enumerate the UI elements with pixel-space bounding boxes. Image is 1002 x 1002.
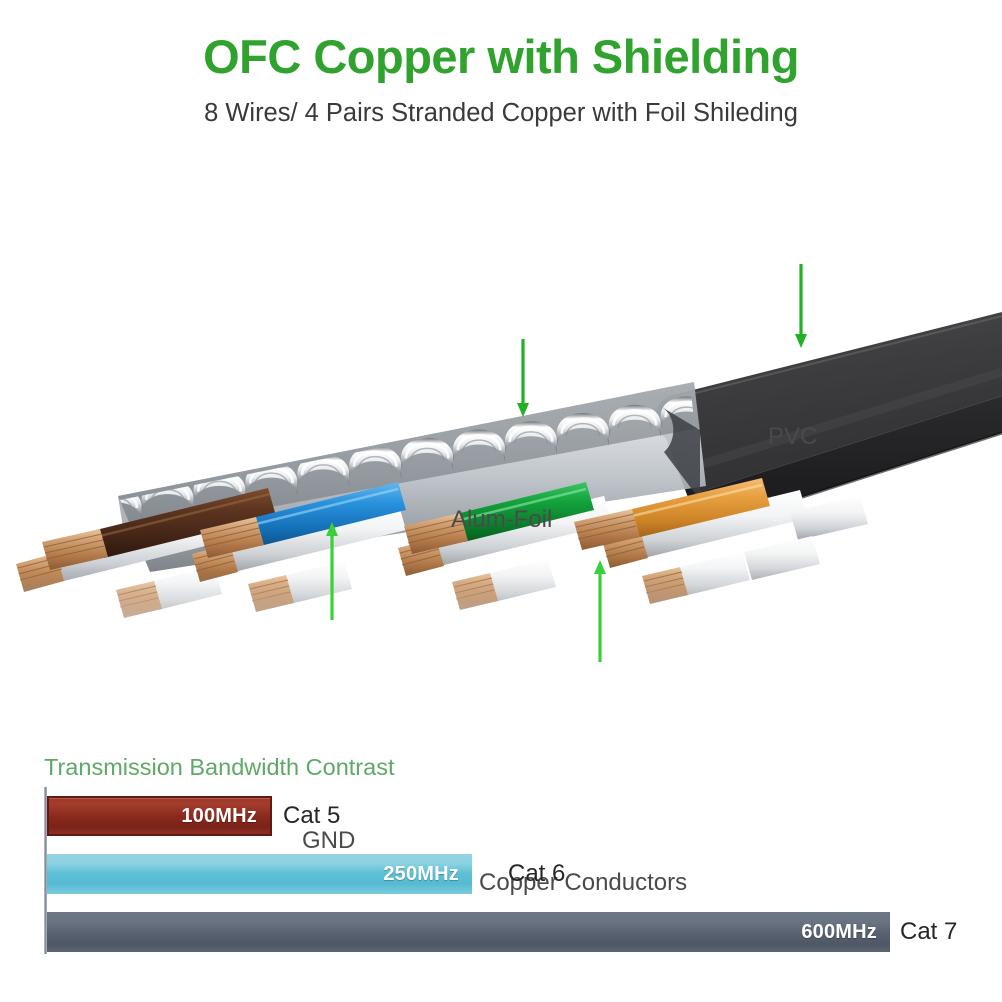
bar-category-cat6: Cat 6 (508, 860, 565, 888)
page-subtitle: 8 Wires/ 4 Pairs Stranded Copper with Fo… (0, 83, 1002, 127)
callout-label-pvc: PVC (768, 425, 817, 449)
bar-cat5: 100MHz (47, 796, 272, 836)
bar-value-cat5: 100MHz (181, 805, 270, 828)
bar-value-cat7: 600MHz (801, 921, 890, 944)
cable-cutaway-graphic (0, 200, 1002, 720)
bandwidth-bar-chart: Transmission Bandwidth Contrast 100MHz C… (0, 742, 1002, 1002)
page-title: OFC Copper with Shielding (0, 0, 1002, 83)
chart-title: Transmission Bandwidth Contrast (44, 756, 394, 780)
bar-category-cat7: Cat 7 (900, 918, 957, 946)
header-block: OFC Copper with Shielding 8 Wires/ 4 Pai… (0, 0, 1002, 127)
bar-category-cat5: Cat 5 (283, 802, 340, 830)
alum-foil-arrow (517, 339, 529, 417)
bar-cat6: 250MHz (47, 854, 472, 894)
cable-illustration: PVC Alum-Foil GND Copper Conductors (0, 200, 1002, 720)
callout-label-alum-foil: Alum-Foil (451, 508, 552, 532)
pvc-arrow (795, 264, 807, 348)
bar-cat7: 600MHz (47, 912, 890, 952)
bar-value-cat6: 250MHz (383, 863, 472, 886)
